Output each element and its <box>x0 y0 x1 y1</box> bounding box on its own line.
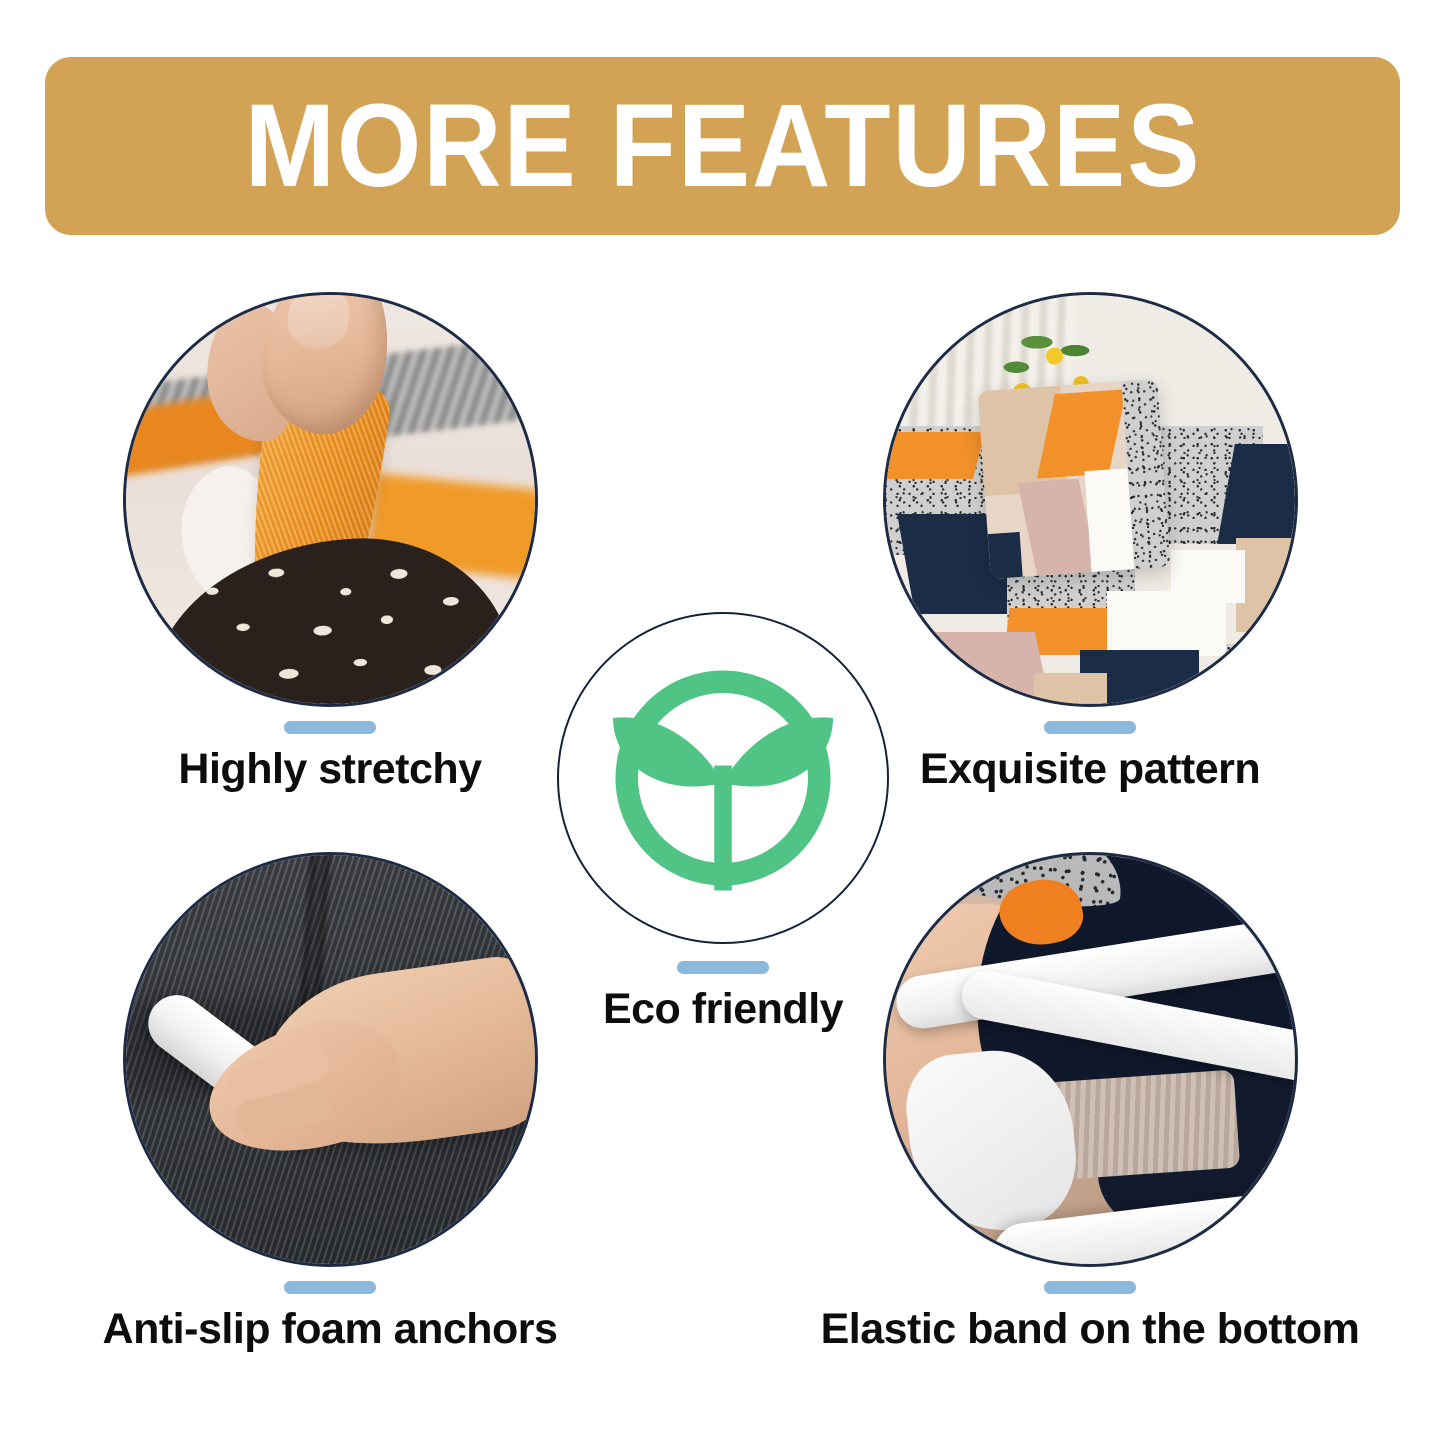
page-title: MORE FEATURES <box>244 87 1201 205</box>
photo-exquisite-pattern <box>886 295 1295 704</box>
photo-elastic-band-on-the-bottom <box>886 855 1295 1264</box>
photo-circle-exquisite-pattern[interactable] <box>883 292 1298 707</box>
header-banner: MORE FEATURES <box>45 57 1400 235</box>
caption-dash-icon <box>1044 721 1136 734</box>
feature-highly-stretchy: Highly stretchy <box>95 292 565 794</box>
sprout-in-circle-icon <box>598 653 848 903</box>
eco-friendly-badge: Eco friendly <box>557 612 889 1034</box>
feature-label: Elastic band on the bottom <box>821 1305 1360 1354</box>
photo-circle-anti-slip-foam-anchors[interactable] <box>123 852 538 1267</box>
caption-highly-stretchy: Highly stretchy <box>178 721 481 794</box>
caption-dash-icon <box>284 721 376 734</box>
feature-label: Highly stretchy <box>178 745 481 794</box>
caption-dash-icon <box>677 961 769 974</box>
feature-label: Exquisite pattern <box>920 745 1260 794</box>
caption-anti-slip-foam-anchors: Anti-slip foam anchors <box>103 1281 558 1354</box>
caption-exquisite-pattern: Exquisite pattern <box>920 721 1260 794</box>
caption-dash-icon <box>1044 1281 1136 1294</box>
feature-exquisite-pattern: Exquisite pattern <box>855 292 1325 794</box>
photo-circle-elastic-band-on-the-bottom[interactable] <box>883 852 1298 1267</box>
feature-label: Anti-slip foam anchors <box>103 1305 558 1354</box>
eco-circle[interactable] <box>557 612 889 944</box>
feature-anti-slip-foam-anchors: Anti-slip foam anchors <box>95 852 565 1354</box>
photo-circle-highly-stretchy[interactable] <box>123 292 538 707</box>
caption-elastic-band-on-the-bottom: Elastic band on the bottom <box>821 1281 1360 1354</box>
caption-eco-friendly: Eco friendly <box>603 961 843 1034</box>
photo-highly-stretchy <box>126 295 535 704</box>
eco-label: Eco friendly <box>603 985 843 1034</box>
caption-dash-icon <box>284 1281 376 1294</box>
feature-elastic-band-on-the-bottom: Elastic band on the bottom <box>855 852 1325 1354</box>
photo-anti-slip-foam-anchors <box>126 855 535 1264</box>
